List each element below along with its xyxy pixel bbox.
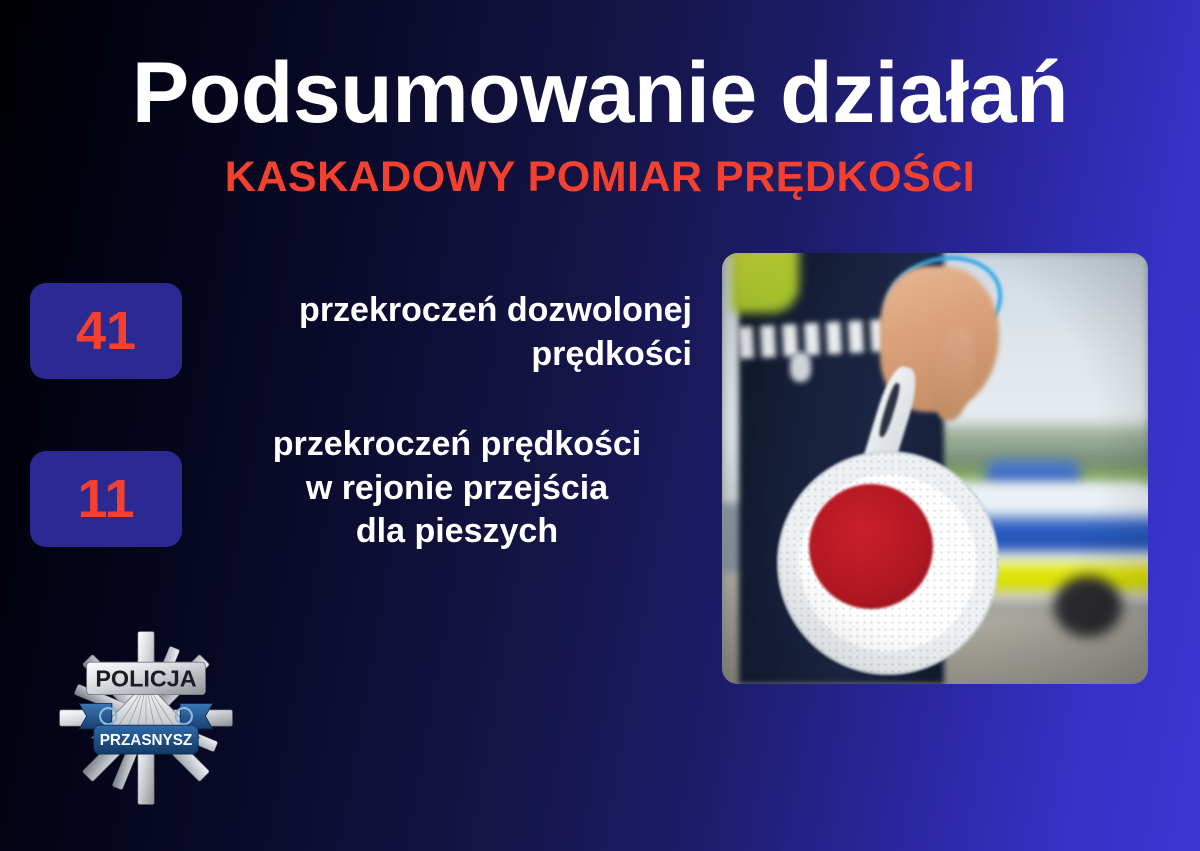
stats-list: 41 przekroczeń dozwolonej prędkości 11 p…: [30, 283, 710, 554]
stat-description-line: w rejonie przejścia: [210, 467, 704, 511]
stat-number: 11: [77, 472, 134, 526]
badge-city-banner: PRZASNYSZ: [94, 725, 198, 754]
stat-description-line: przekroczeń dozwolonej: [210, 289, 692, 333]
page-title: Podsumowanie działań: [0, 48, 1200, 138]
stat-description: przekroczeń prędkości w rejonie przejści…: [182, 417, 710, 554]
photo-content: [722, 253, 1148, 684]
stat-number: 41: [76, 304, 136, 358]
stat-description-line: prędkości: [210, 333, 692, 377]
badge-city-text: PRZASNYSZ: [100, 732, 193, 749]
poster-header: Podsumowanie działań KASKADOWY POMIAR PR…: [0, 0, 1200, 202]
police-badge-logo: POLICJA PRZASNYSZ: [56, 628, 236, 808]
stat-item-crosswalk: 11 przekroczeń prędkości w rejonie przej…: [30, 417, 710, 554]
stat-badge-11: 11: [30, 451, 182, 547]
page-subtitle: KASKADOWY POMIAR PRĘDKOŚCI: [0, 154, 1200, 201]
stat-item-speeding: 41 przekroczeń dozwolonej prędkości: [30, 283, 710, 379]
stat-badge-41: 41: [30, 283, 182, 379]
stat-description-line: dla pieszych: [210, 510, 704, 554]
badge-policja-text: POLICJA: [95, 666, 196, 692]
photo-vignette: [722, 253, 1148, 684]
poster-canvas: Podsumowanie działań KASKADOWY POMIAR PR…: [0, 0, 1200, 851]
badge-policja-plate: POLICJA: [87, 662, 206, 694]
photo-traffic-stop: [722, 253, 1148, 684]
stat-description-line: przekroczeń prędkości: [210, 423, 704, 467]
stat-description: przekroczeń dozwolonej prędkości: [182, 283, 710, 376]
